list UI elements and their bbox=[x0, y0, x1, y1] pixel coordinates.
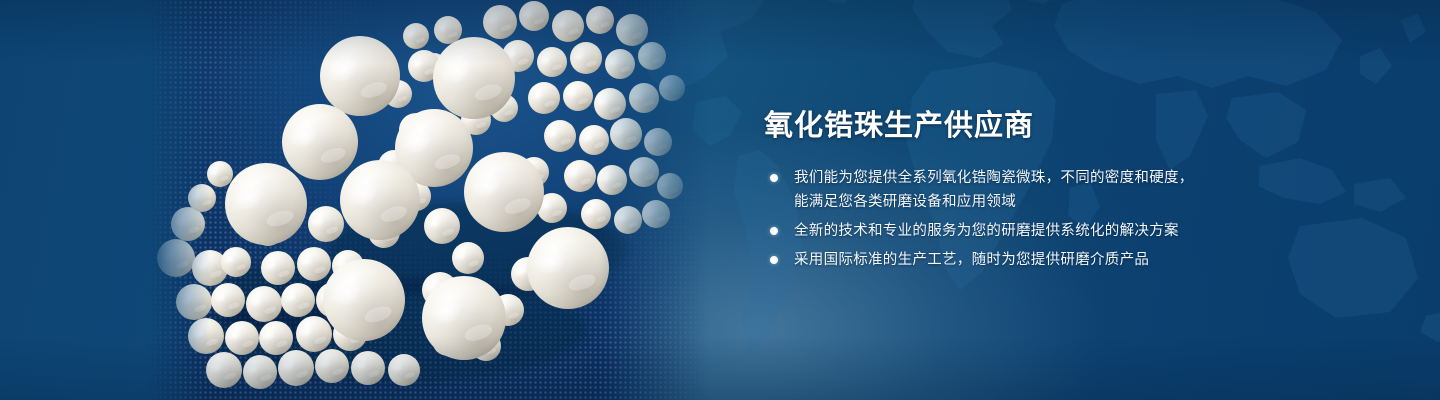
beads-cluster-illustration bbox=[148, 0, 708, 400]
banner-headline: 氧化锆珠生产供应商 bbox=[764, 106, 1404, 146]
banner-copy: 氧化锆珠生产供应商 我们能为您提供全系列氧化锆陶瓷微珠，不同的密度和硬度， 能满… bbox=[764, 106, 1404, 272]
zirconia-beads-photo bbox=[148, 0, 708, 400]
banner-feature-list: 我们能为您提供全系列氧化锆陶瓷微珠，不同的密度和硬度， 能满足您各类研磨设备和应… bbox=[764, 166, 1404, 272]
feature-list-item: 我们能为您提供全系列氧化锆陶瓷微珠，不同的密度和硬度， 能满足您各类研磨设备和应… bbox=[764, 166, 1404, 214]
bullet-dot-icon bbox=[770, 256, 778, 264]
feature-text-line: 我们能为您提供全系列氧化锆陶瓷微珠，不同的密度和硬度， bbox=[794, 166, 1404, 190]
bullet-dot-icon bbox=[770, 174, 778, 182]
feature-list-item: 全新的技术和专业的服务为您的研磨提供系统化的解决方案 bbox=[764, 219, 1404, 243]
hero-banner: 氧化锆珠生产供应商 我们能为您提供全系列氧化锆陶瓷微珠，不同的密度和硬度， 能满… bbox=[0, 0, 1440, 400]
feature-list-item: 采用国际标准的生产工艺，随时为您提供研磨介质产品 bbox=[764, 248, 1404, 272]
feature-text-line: 全新的技术和专业的服务为您的研磨提供系统化的解决方案 bbox=[794, 219, 1404, 243]
bullet-dot-icon bbox=[770, 227, 778, 235]
feature-text-line: 采用国际标准的生产工艺，随时为您提供研磨介质产品 bbox=[794, 248, 1404, 272]
feature-text-line: 能满足您各类研磨设备和应用领域 bbox=[794, 190, 1404, 214]
